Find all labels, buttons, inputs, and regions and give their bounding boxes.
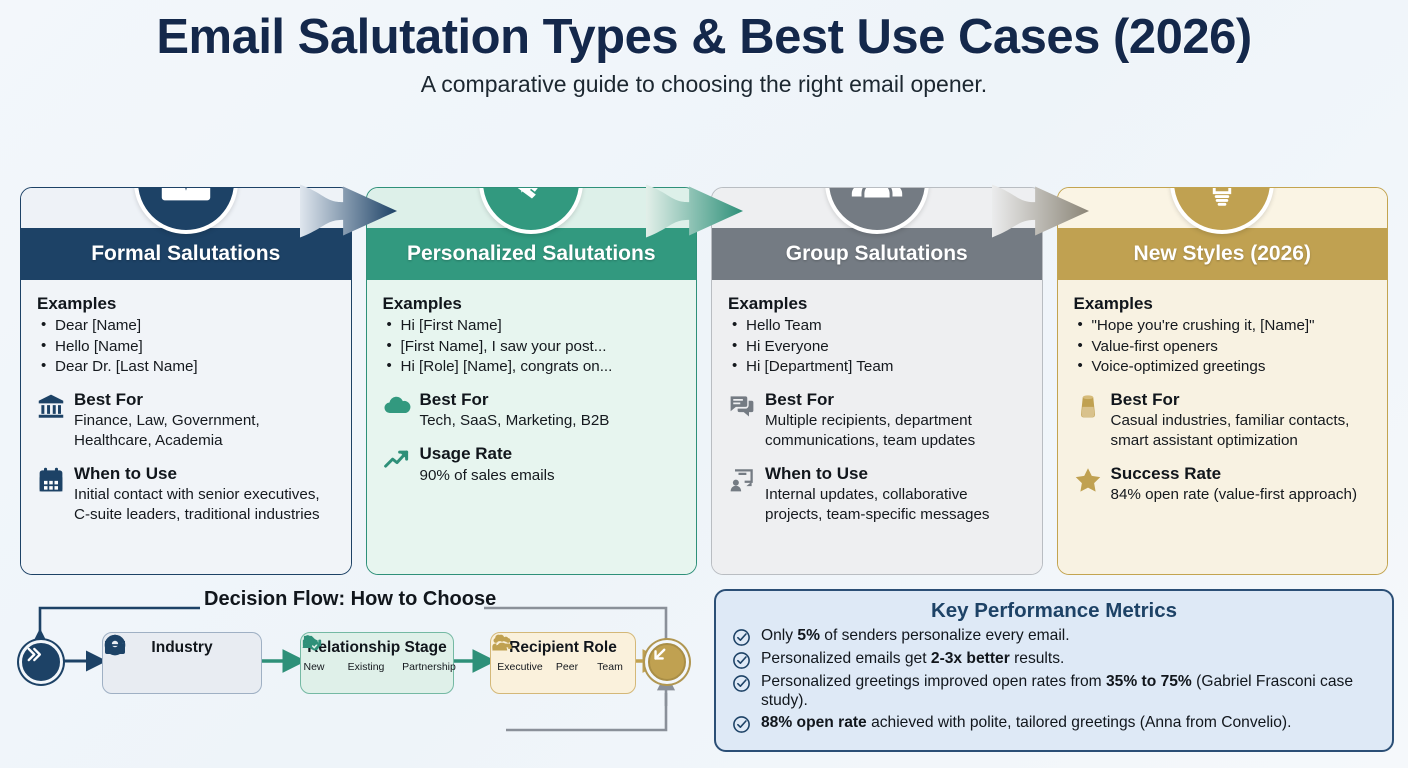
examples-label: Examples: [37, 294, 335, 314]
two-people-icon: Peer: [548, 659, 586, 673]
list-item: Personalized greetings improved open rat…: [732, 672, 1376, 711]
card-group-salutations[interactable]: Group Salutations Examples Hello Team Hi…: [711, 187, 1043, 575]
flow-step-relationship-stage[interactable]: Relationship Stage New Existing Partners…: [300, 632, 454, 694]
list-item: Hello Team: [730, 316, 1026, 336]
kpm-text-pre: Personalized emails get: [761, 650, 931, 667]
feature-when-to-use: When to Use Internal updates, collaborat…: [728, 464, 1026, 525]
list-item: Dear Dr. [Last Name]: [39, 357, 335, 377]
list-item: Value-first openers: [1076, 337, 1372, 357]
examples-label: Examples: [728, 294, 1026, 314]
examples-label: Examples: [1074, 294, 1372, 314]
three-people-icon: Team: [588, 659, 632, 673]
feature-label: Best For: [1111, 390, 1180, 409]
decision-flow-title: Decision Flow: How to Choose: [196, 588, 504, 611]
kpm-text-pre: Only: [761, 627, 797, 644]
examples-list: "Hope you're crushing it, [Name]" Value-…: [1076, 316, 1372, 377]
examples-list: Hi [First Name] [First Name], I saw your…: [385, 316, 681, 377]
kpm-text-post: results.: [1010, 650, 1065, 667]
flow-icon-label: Peer: [556, 661, 578, 673]
feature-value: Casual industries, familiar contacts, sm…: [1111, 411, 1372, 451]
card-body-new-styles: Examples "Hope you're crushing it, [Name…: [1058, 280, 1388, 574]
presentation-person-icon: [728, 466, 756, 494]
check-circle-icon: [732, 628, 751, 647]
kpm-list: Only 5% of senders personalize every ema…: [732, 626, 1376, 734]
card-title-formal: Formal Salutations: [21, 228, 351, 280]
people-check-icon: Existing: [340, 659, 392, 673]
decision-flow-section: Decision Flow: How to Choose Industry: [14, 588, 704, 754]
flow-step-title: Relationship Stage: [307, 639, 447, 657]
kpm-text-pre: Personalized greetings improved open rat…: [761, 673, 1106, 690]
chat-bubbles-icon: [728, 392, 756, 420]
star-icon: [1074, 466, 1102, 494]
feature-best-for: Best For Tech, SaaS, Marketing, B2B: [383, 390, 681, 431]
flow-step-recipient-role[interactable]: Recipient Role Executive Peer Team: [490, 632, 636, 694]
check-circle-icon: [732, 651, 751, 670]
flow-step-title: Recipient Role: [509, 639, 617, 657]
kpm-text-post: achieved with polite, tailored greetings…: [867, 714, 1292, 731]
list-item: Personalized emails get 2-3x better resu…: [732, 649, 1376, 670]
feature-value: Tech, SaaS, Marketing, B2B: [420, 411, 681, 431]
list-item: Hi [Role] [Name], congrats on...: [385, 357, 681, 377]
kpm-text-bold: 88% open rate: [761, 714, 867, 731]
card-title-new-styles: New Styles (2026): [1058, 228, 1388, 280]
flow-icon-label: Existing: [348, 661, 385, 673]
card-formal-salutations[interactable]: Formal Salutations Examples Dear [Name] …: [20, 187, 352, 575]
feature-value: Internal updates, collaborative projects…: [765, 485, 1026, 525]
examples-list: Dear [Name] Hello [Name] Dear Dr. [Last …: [39, 316, 335, 377]
calendar-icon: [37, 466, 65, 494]
feature-label: Success Rate: [1111, 464, 1222, 483]
feature-label: When to Use: [765, 464, 868, 483]
key-performance-metrics-panel: Key Performance Metrics Only 5% of sende…: [714, 589, 1394, 752]
feature-best-for: Best For Multiple recipients, department…: [728, 390, 1026, 451]
arrow-down-left-icon: [648, 643, 686, 681]
feature-value: 90% of sales emails: [420, 466, 681, 486]
page-subtitle: A comparative guide to choosing the righ…: [0, 71, 1408, 98]
flow-step-title: Industry: [151, 639, 212, 657]
list-item: Hi [Department] Team: [730, 357, 1026, 377]
list-item: "Hope you're crushing it, [Name]": [1076, 316, 1372, 336]
list-item: Only 5% of senders personalize every ema…: [732, 626, 1376, 647]
list-item: Hi Everyone: [730, 337, 1026, 357]
feature-label: Best For: [765, 390, 834, 409]
examples-label: Examples: [383, 294, 681, 314]
card-body-personalized: Examples Hi [First Name] [First Name], I…: [367, 280, 697, 574]
flow-icon-label: Team: [597, 661, 623, 673]
kpm-text-post: of senders personalize every email.: [820, 627, 1070, 644]
feature-value: Initial contact with senior executives, …: [74, 485, 335, 525]
cloud-icon: [383, 392, 411, 420]
list-item: [First Name], I saw your post...: [385, 337, 681, 357]
list-item: Dear [Name]: [39, 316, 335, 336]
list-item: Hello [Name]: [39, 337, 335, 357]
flow-icon-label: Partnership: [402, 661, 456, 673]
kpm-text-bold: 5%: [797, 627, 820, 644]
card-body-formal: Examples Dear [Name] Hello [Name] Dear D…: [21, 280, 351, 574]
handshake-icon: Partnership: [396, 659, 462, 673]
list-item: Hi [First Name]: [385, 316, 681, 336]
feature-when-to-use: When to Use Initial contact with senior …: [37, 464, 335, 525]
feature-usage-rate: Usage Rate 90% of sales emails: [383, 444, 681, 485]
card-title-group: Group Salutations: [712, 228, 1042, 280]
examples-list: Hello Team Hi Everyone Hi [Department] T…: [730, 316, 1026, 377]
feature-value: Finance, Law, Government, Healthcare, Ac…: [74, 411, 335, 451]
salutation-cards-row: Formal Salutations Examples Dear [Name] …: [20, 187, 1388, 575]
list-item: Voice-optimized greetings: [1076, 357, 1372, 377]
kpm-title: Key Performance Metrics: [732, 599, 1376, 623]
feature-value: Multiple recipients, department communic…: [765, 411, 1026, 451]
feature-label: Best For: [74, 390, 143, 409]
double-chevron-right-icon: [22, 643, 60, 681]
feature-label: Best For: [420, 390, 489, 409]
kpm-text-bold: 35% to 75%: [1106, 673, 1192, 690]
tag-icon: New: [292, 659, 336, 673]
page-header: Email Salutation Types & Best Use Cases …: [0, 0, 1408, 98]
flow-icon-label: Executive: [497, 661, 543, 673]
feature-value: 84% open rate (value-first approach): [1111, 485, 1372, 505]
card-personalized-salutations[interactable]: Personalized Salutations Examples Hi [Fi…: [366, 187, 698, 575]
feature-label: When to Use: [74, 464, 177, 483]
trend-up-icon: [383, 446, 411, 474]
list-item: 88% open rate achieved with polite, tail…: [732, 713, 1376, 734]
card-title-personalized: Personalized Salutations: [367, 228, 697, 280]
feature-label: Usage Rate: [420, 444, 513, 463]
flow-icon-label: New: [303, 661, 324, 673]
kpm-text-bold: 2-3x better: [931, 650, 1010, 667]
check-circle-icon: [732, 715, 751, 734]
smart-speaker-icon: [1074, 392, 1102, 420]
feature-success-rate: Success Rate 84% open rate (value-first …: [1074, 464, 1372, 505]
feature-best-for: Best For Casual industries, familiar con…: [1074, 390, 1372, 451]
page-title: Email Salutation Types & Best Use Cases …: [0, 12, 1408, 63]
feature-best-for: Best For Finance, Law, Government, Healt…: [37, 390, 335, 451]
card-body-group: Examples Hello Team Hi Everyone Hi [Depa…: [712, 280, 1042, 574]
person-tie-icon: Executive: [494, 659, 546, 673]
bank-icon: [37, 392, 65, 420]
card-new-styles[interactable]: New Styles (2026) Examples "Hope you're …: [1057, 187, 1389, 575]
flow-step-industry[interactable]: Industry: [102, 632, 262, 694]
check-circle-icon: [732, 674, 751, 693]
